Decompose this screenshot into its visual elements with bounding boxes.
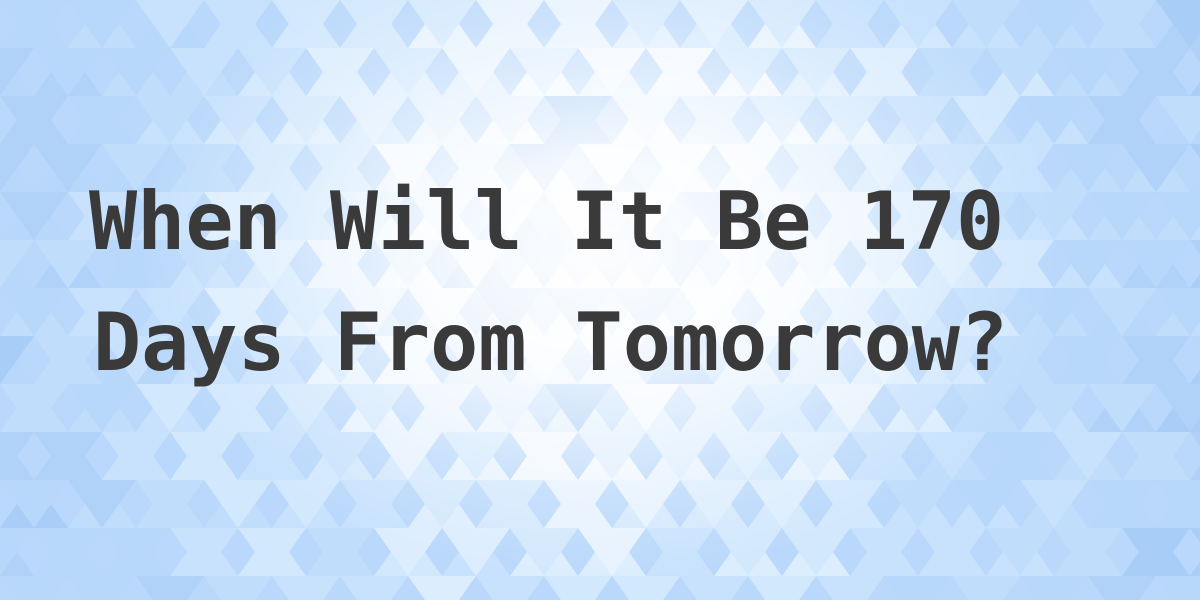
title-banner: When Will It Be 170 Days From Tomorrow? bbox=[0, 0, 1200, 600]
page-title: When Will It Be 170 Days From Tomorrow? bbox=[0, 0, 1200, 600]
page-title-line-2: Days From Tomorrow? bbox=[93, 303, 1008, 383]
page-title-line-1: When Will It Be 170 bbox=[89, 182, 1004, 262]
